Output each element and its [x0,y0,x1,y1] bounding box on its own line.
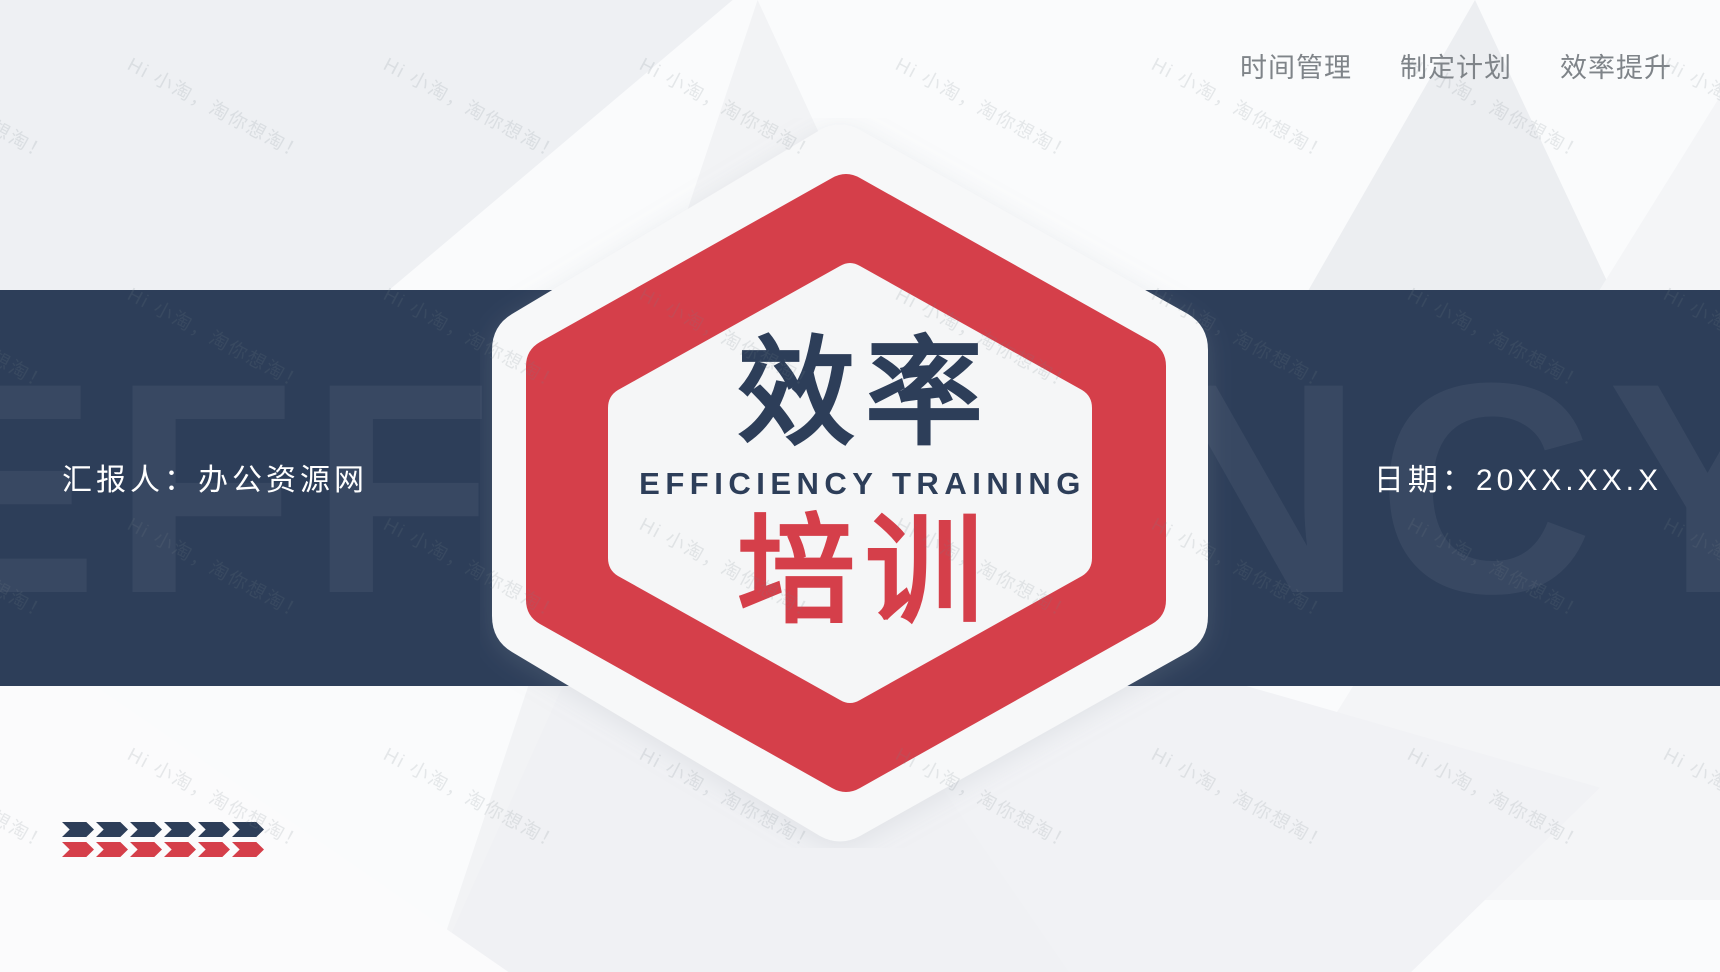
badge-text-group: 效率 EFFICIENCY TRAINING 培训 [480,118,1240,848]
chevron-icon [232,822,264,837]
chevron-icon [198,822,230,837]
chevron-icon [164,842,196,857]
chevron-icon [62,842,94,857]
chevron-icon [164,822,196,837]
badge-subtitle-en: EFFICIENCY TRAINING [634,466,1086,502]
top-nav: 时间管理 制定计划 效率提升 [1240,46,1672,85]
chevron-icon [232,842,264,857]
chevron-icon [130,842,162,857]
date-label: 日期：20XX.XX.X [1374,455,1662,499]
chevron-row-red [62,842,264,857]
chevron-decoration [62,822,264,862]
chevron-icon [96,842,128,857]
badge-title-cn-bottom: 培训 [727,512,993,632]
nav-item-make-plan[interactable]: 制定计划 [1400,46,1512,85]
hexagon-badge: 效率 EFFICIENCY TRAINING 培训 [480,118,1240,848]
chevron-icon [62,822,94,837]
presenter-label: 汇报人：办公资源网 [62,455,368,499]
chevron-icon [198,842,230,857]
nav-item-efficiency-boost[interactable]: 效率提升 [1560,46,1672,85]
chevron-icon [96,822,128,837]
chevron-icon [130,822,162,837]
chevron-row-navy [62,822,264,837]
slide-root: EFFICIENCY 时间管理 制定计划 效率提升 效率 EFFICIENCY … [0,0,1720,972]
nav-item-time-management[interactable]: 时间管理 [1240,46,1352,85]
badge-title-cn-top: 效率 [727,334,993,454]
